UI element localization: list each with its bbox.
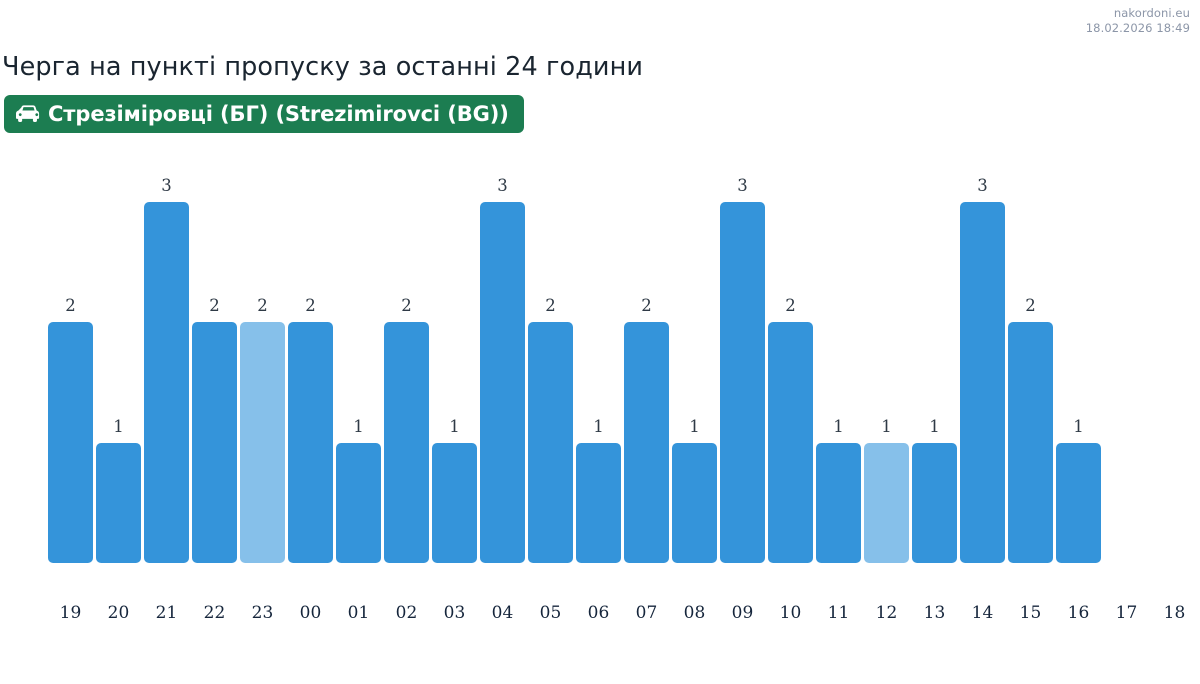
bar-slot: 18: [1152, 0, 1200, 684]
bar[interactable]: [144, 202, 189, 563]
bar-slot: 106: [576, 0, 624, 684]
bar-value-label: 1: [1056, 417, 1101, 436]
x-axis-tick: 02: [384, 603, 429, 623]
bar-slot: 309: [720, 0, 768, 684]
bar[interactable]: [288, 322, 333, 563]
bar[interactable]: [432, 443, 477, 563]
bar-value-label: 2: [48, 296, 93, 315]
bar-chart: 2191203212222232001012021033042051062071…: [0, 0, 1200, 684]
x-axis-tick: 22: [192, 603, 237, 623]
bar-value-label: 1: [672, 417, 717, 436]
bar-slot: 120: [96, 0, 144, 684]
bar-value-label: 1: [864, 417, 909, 436]
x-axis-tick: 15: [1008, 603, 1053, 623]
x-axis-tick: 01: [336, 603, 381, 623]
bar-slot: 101: [336, 0, 384, 684]
bar-slot: 116: [1056, 0, 1104, 684]
bar-slot: 210: [768, 0, 816, 684]
x-axis-tick: 10: [768, 603, 813, 623]
bar-slot: 108: [672, 0, 720, 684]
x-axis-tick: 17: [1104, 603, 1149, 623]
bar[interactable]: [384, 322, 429, 563]
bar-value-label: 1: [576, 417, 621, 436]
x-axis-tick: 03: [432, 603, 477, 623]
bar[interactable]: [960, 202, 1005, 563]
x-axis-tick: 05: [528, 603, 573, 623]
x-axis-tick: 11: [816, 603, 861, 623]
x-axis-tick: 19: [48, 603, 93, 623]
bar-value-label: 3: [480, 176, 525, 195]
bar-value-label: 2: [1008, 296, 1053, 315]
bar[interactable]: [96, 443, 141, 563]
bar-value-label: 2: [768, 296, 813, 315]
bar-slot: 304: [480, 0, 528, 684]
bar[interactable]: [624, 322, 669, 563]
x-axis-tick: 21: [144, 603, 189, 623]
x-axis-tick: 14: [960, 603, 1005, 623]
bar[interactable]: [864, 443, 909, 563]
bar-slot: 321: [144, 0, 192, 684]
bar-value-label: 3: [144, 176, 189, 195]
bar-value-label: 1: [96, 417, 141, 436]
bar[interactable]: [1056, 443, 1101, 563]
bar-slot: 219: [48, 0, 96, 684]
bars-layer: 2191203212222232001012021033042051062071…: [48, 0, 1152, 684]
bar[interactable]: [720, 202, 765, 563]
bar[interactable]: [192, 322, 237, 563]
x-axis-tick: 12: [864, 603, 909, 623]
bar-value-label: 1: [336, 417, 381, 436]
bar[interactable]: [240, 322, 285, 563]
bar-slot: 111: [816, 0, 864, 684]
bar-slot: 200: [288, 0, 336, 684]
x-axis-tick: 08: [672, 603, 717, 623]
bar[interactable]: [816, 443, 861, 563]
bar[interactable]: [48, 322, 93, 563]
bar-value-label: 2: [384, 296, 429, 315]
bar-value-label: 2: [528, 296, 573, 315]
bar-value-label: 3: [960, 176, 1005, 195]
bar-slot: 112: [864, 0, 912, 684]
bar[interactable]: [1008, 322, 1053, 563]
bar-slot: 205: [528, 0, 576, 684]
bar-slot: 223: [240, 0, 288, 684]
bar[interactable]: [576, 443, 621, 563]
bar-slot: 113: [912, 0, 960, 684]
x-axis-tick: 00: [288, 603, 333, 623]
bar-value-label: 2: [624, 296, 669, 315]
bar[interactable]: [480, 202, 525, 563]
bar[interactable]: [912, 443, 957, 563]
x-axis-tick: 13: [912, 603, 957, 623]
bar-value-label: 2: [192, 296, 237, 315]
bar-value-label: 2: [288, 296, 333, 315]
x-axis-tick: 20: [96, 603, 141, 623]
bar-slot: 103: [432, 0, 480, 684]
bar[interactable]: [528, 322, 573, 563]
bar-slot: 222: [192, 0, 240, 684]
bar-slot: 17: [1104, 0, 1152, 684]
x-axis-tick: 04: [480, 603, 525, 623]
bar-value-label: 1: [432, 417, 477, 436]
x-axis-tick: 23: [240, 603, 285, 623]
bar-slot: 314: [960, 0, 1008, 684]
bar-slot: 202: [384, 0, 432, 684]
x-axis-tick: 09: [720, 603, 765, 623]
x-axis-tick: 16: [1056, 603, 1101, 623]
bar[interactable]: [336, 443, 381, 563]
bar[interactable]: [672, 443, 717, 563]
bar-value-label: 1: [816, 417, 861, 436]
bar-value-label: 3: [720, 176, 765, 195]
x-axis-tick: 07: [624, 603, 669, 623]
bar-value-label: 1: [912, 417, 957, 436]
x-axis-tick: 06: [576, 603, 621, 623]
bar[interactable]: [768, 322, 813, 563]
x-axis-tick: 18: [1152, 603, 1197, 623]
bar-value-label: 2: [240, 296, 285, 315]
bar-slot: 215: [1008, 0, 1056, 684]
bar-slot: 207: [624, 0, 672, 684]
